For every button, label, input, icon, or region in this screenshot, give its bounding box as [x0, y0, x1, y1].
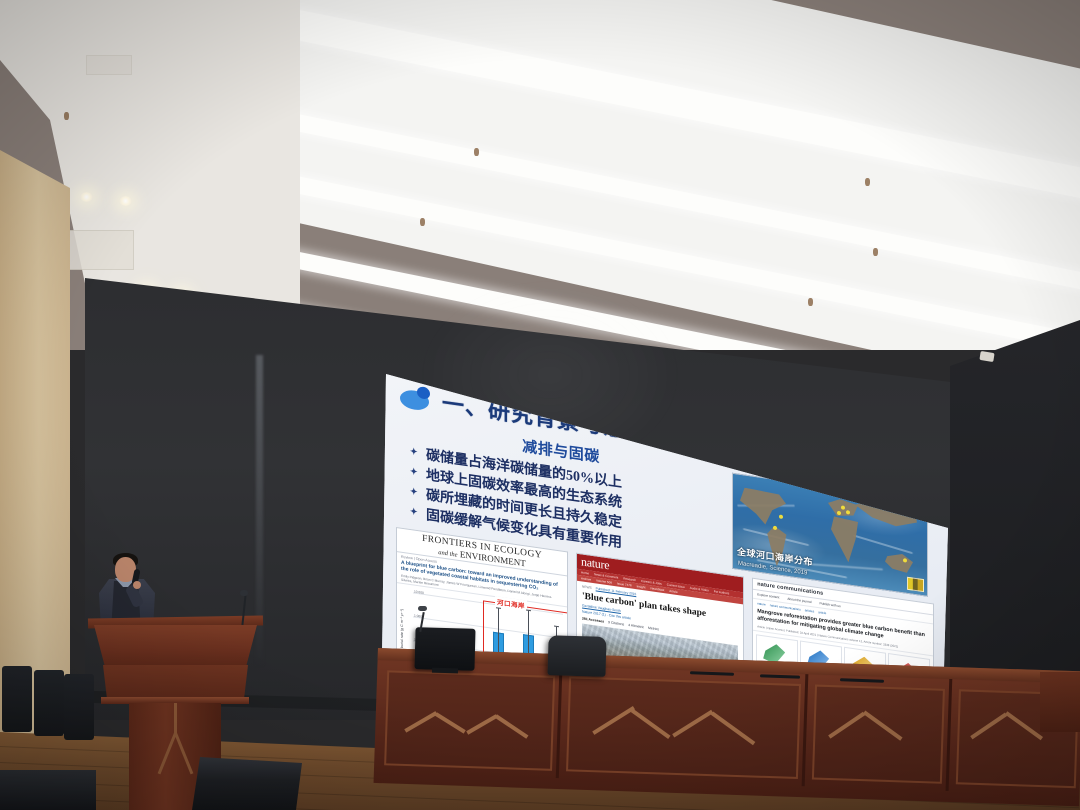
table-seam	[556, 666, 563, 778]
sprinkler-head	[64, 112, 69, 120]
map-legend	[907, 577, 924, 592]
sprinkler-head	[420, 218, 425, 226]
side-chairs	[0, 660, 80, 780]
chair[interactable]	[2, 666, 32, 732]
stage-monitor-speaker	[0, 770, 96, 810]
sprinkler-head	[474, 148, 479, 156]
breadcrumb-item[interactable]: articles	[805, 608, 815, 613]
chair[interactable]	[34, 670, 64, 736]
table-seam	[946, 679, 953, 791]
conference-chair[interactable]	[547, 635, 606, 677]
breadcrumb-item[interactable]: article	[818, 610, 826, 615]
sprinkler-head	[808, 298, 813, 306]
stage-wall-right	[950, 300, 1080, 700]
downlight	[80, 192, 93, 202]
metric: 9 Citations	[608, 620, 624, 626]
conference-hall-photo: 一、研究背景与意义 减排与固碳 碳储量占海洋碳储量的50%以上 地球上固碳效率最…	[0, 0, 1080, 810]
metric: 4 Altmetric	[628, 623, 644, 629]
stage-monitor-speaker	[192, 757, 302, 810]
slide-bullet-blob-icon	[400, 384, 434, 413]
monitor-stand	[432, 668, 458, 674]
nav-item[interactable]: Explore content	[757, 592, 779, 599]
desk-monitor[interactable]	[414, 627, 475, 671]
metric[interactable]: Metrics	[648, 626, 659, 632]
sprinkler-head	[865, 178, 870, 186]
nav-item[interactable]: About the journal	[787, 596, 811, 603]
side-podium	[1040, 672, 1080, 732]
chart-y-tick: 10 000	[414, 590, 424, 595]
breadcrumb-item[interactable]: nature	[757, 601, 766, 606]
table-panel	[566, 676, 801, 779]
nature-logo: nature	[581, 555, 609, 571]
nav-item[interactable]: Publish with us	[819, 601, 840, 608]
ceiling-vent	[60, 230, 134, 270]
podium-microphone[interactable]	[240, 590, 248, 596]
table-seam	[802, 674, 809, 786]
downlight	[119, 196, 132, 206]
desk-microphone[interactable]	[418, 606, 427, 611]
table-panel	[384, 670, 555, 771]
sprinkler-head	[873, 248, 878, 256]
metric: 281 Accesses	[582, 616, 604, 623]
table-panel	[812, 685, 945, 784]
journal-name-prefix: and the	[438, 549, 457, 559]
article-kicker: NEWS	[582, 584, 592, 589]
ceiling-vent	[86, 55, 132, 75]
